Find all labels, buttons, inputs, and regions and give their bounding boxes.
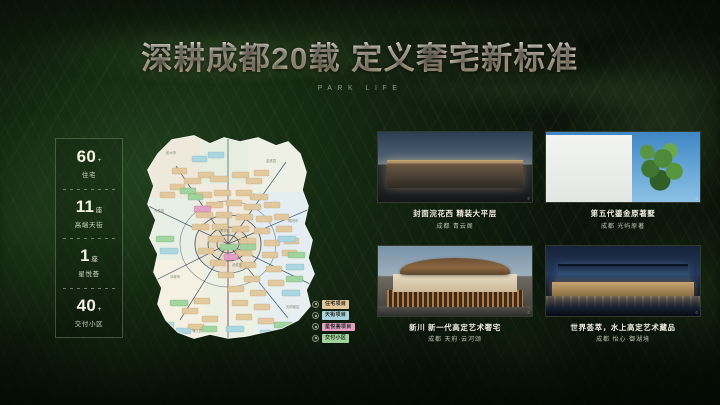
stat-value: 60 + [77, 148, 102, 165]
watermark: © [527, 197, 530, 201]
stat-item: 40 + 交付小区 [56, 288, 122, 338]
project-card[interactable]: © 第五代鎏金原著墅 成都 光屿原著 [545, 131, 701, 233]
project-location: 成都 怡心·御湖境 [545, 334, 701, 343]
watermark: © [695, 197, 698, 201]
stat-label: 住宅 [82, 169, 96, 179]
image-glass-box-shape [558, 264, 687, 282]
title-block: 深耕成都20载 定义奢宅新标准 PARK LIFE [0, 42, 720, 92]
image-ground-shape [378, 306, 532, 316]
stat-number: 1 [80, 247, 90, 264]
stat-number: 11 [76, 198, 95, 215]
legend-marker-icon [312, 312, 319, 319]
page-subtitle: PARK LIFE [0, 85, 720, 92]
project-title: 世界荟萃，水上高定艺术藏品 [545, 323, 701, 332]
page-title: 深耕成都20载 定义奢宅新标准 [0, 42, 720, 76]
image-colonnade-shape [387, 290, 523, 307]
project-caption: 世界荟萃，水上高定艺术藏品 成都 怡心·御湖境 [545, 317, 701, 344]
project-location: 成都 光屿原著 [545, 221, 701, 230]
svg-text:彭州市: 彭州市 [166, 150, 177, 155]
project-location: 成都 青云阁 [377, 221, 533, 230]
legend-marker-icon [312, 335, 319, 342]
stat-unit: 座 [91, 257, 98, 264]
image-tree-shape [626, 138, 697, 202]
stat-unit: + [98, 307, 102, 314]
image-roof-shape [400, 258, 511, 275]
project-gallery: © 封面浣花西 精装大平层 成都 青云阁 © 第五代鎏金原著墅 成都 光屿原著 [377, 131, 701, 346]
stat-unit: 座 [96, 208, 103, 215]
map-district-shapes: 彭州市 金堂县 大邑县 简阳市 邛崃市 天府新区 蒲江县 青羊区 武侯区 [144, 134, 314, 344]
project-thumbnail[interactable]: © [545, 131, 701, 203]
stat-value: 40 + [77, 297, 102, 314]
legend-label: 住宅项目 [322, 300, 349, 309]
legend-label: 交付小区 [322, 334, 349, 343]
project-card[interactable]: © 世界荟萃，水上高定艺术藏品 成都 怡心·御湖境 [545, 245, 701, 347]
svg-text:邛崃市: 邛崃市 [170, 274, 181, 279]
stat-item: 11 座 高端天街 [56, 189, 122, 239]
project-title: 第五代鎏金原著墅 [545, 209, 701, 218]
legend-marker-icon [312, 301, 319, 308]
stat-item: 1 座 星悦荟 [56, 238, 122, 288]
map-svg: 彭州市 金堂县 大邑县 简阳市 邛崃市 天府新区 蒲江县 青羊区 武侯区 [136, 132, 326, 344]
stat-label: 星悦荟 [78, 268, 99, 278]
stat-label: 交付小区 [75, 318, 103, 328]
image-facade-shape [393, 274, 516, 292]
statistics-panel: 60 + 住宅 11 座 高端天街 1 座 星悦荟 40 + 交付小区 [55, 138, 123, 338]
project-thumbnail[interactable]: © [377, 131, 533, 203]
project-caption: 封面浣花西 精装大平层 成都 青云阁 [377, 203, 533, 230]
svg-text:武侯区: 武侯区 [232, 262, 243, 267]
legend-item[interactable]: 星悦荟项目 [312, 323, 355, 332]
project-location: 成都 天府·云河颂 [377, 334, 533, 343]
legend-marker-icon [312, 323, 319, 330]
svg-text:金堂县: 金堂县 [266, 158, 277, 163]
project-image-curved-pavilion [378, 246, 532, 316]
svg-text:蒲江县: 蒲江县 [192, 328, 203, 333]
stat-number: 40 [77, 297, 97, 314]
legend-item[interactable]: 交付小区 [312, 334, 355, 343]
stat-value: 1 座 [80, 247, 98, 264]
map-legend: 住宅项目 天街项目 星悦荟项目 交付小区 [312, 300, 355, 343]
image-glow-accent [396, 178, 513, 186]
legend-item[interactable]: 住宅项目 [312, 300, 355, 309]
project-card[interactable]: © 封面浣花西 精装大平层 成都 青云阁 [377, 131, 533, 233]
project-card[interactable]: © 新川 新一代高定艺术奢宅 成都 天府·云河颂 [377, 245, 533, 347]
svg-text:简阳市: 简阳市 [288, 218, 299, 223]
project-thumbnail[interactable]: © [377, 245, 533, 317]
chengdu-distribution-map: 彭州市 金堂县 大邑县 简阳市 邛崃市 天府新区 蒲江县 青羊区 武侯区 [136, 132, 326, 344]
stat-number: 60 [77, 148, 97, 165]
stat-unit: + [98, 158, 102, 165]
watermark: © [527, 311, 530, 315]
legend-label: 星悦荟项目 [322, 323, 355, 332]
legend-item[interactable]: 天街项目 [312, 311, 355, 320]
stat-value: 11 座 [76, 198, 103, 215]
image-water-reflection [546, 296, 700, 316]
project-image-white-residential [546, 132, 700, 202]
project-caption: 第五代鎏金原著墅 成都 光屿原著 [545, 203, 701, 230]
watermark: © [695, 311, 698, 315]
legend-label: 天街项目 [322, 311, 349, 320]
svg-text:大邑县: 大邑县 [154, 208, 165, 213]
svg-text:天府新区: 天府新区 [286, 304, 300, 309]
project-image-glass-pavilion-water [546, 246, 700, 316]
project-image-modern-pavilion [378, 132, 532, 202]
project-title: 新川 新一代高定艺术奢宅 [377, 323, 533, 332]
stat-label: 高端天街 [75, 219, 103, 229]
project-title: 封面浣花西 精装大平层 [377, 209, 533, 218]
stat-item: 60 + 住宅 [56, 139, 122, 189]
image-building-shape [546, 135, 632, 202]
svg-text:青羊区: 青羊区 [220, 228, 231, 233]
image-podium-shape [552, 282, 694, 296]
presentation-slide: 深耕成都20载 定义奢宅新标准 PARK LIFE 60 + 住宅 11 座 高… [0, 0, 720, 405]
project-thumbnail[interactable]: © [545, 245, 701, 317]
project-caption: 新川 新一代高定艺术奢宅 成都 天府·云河颂 [377, 317, 533, 344]
